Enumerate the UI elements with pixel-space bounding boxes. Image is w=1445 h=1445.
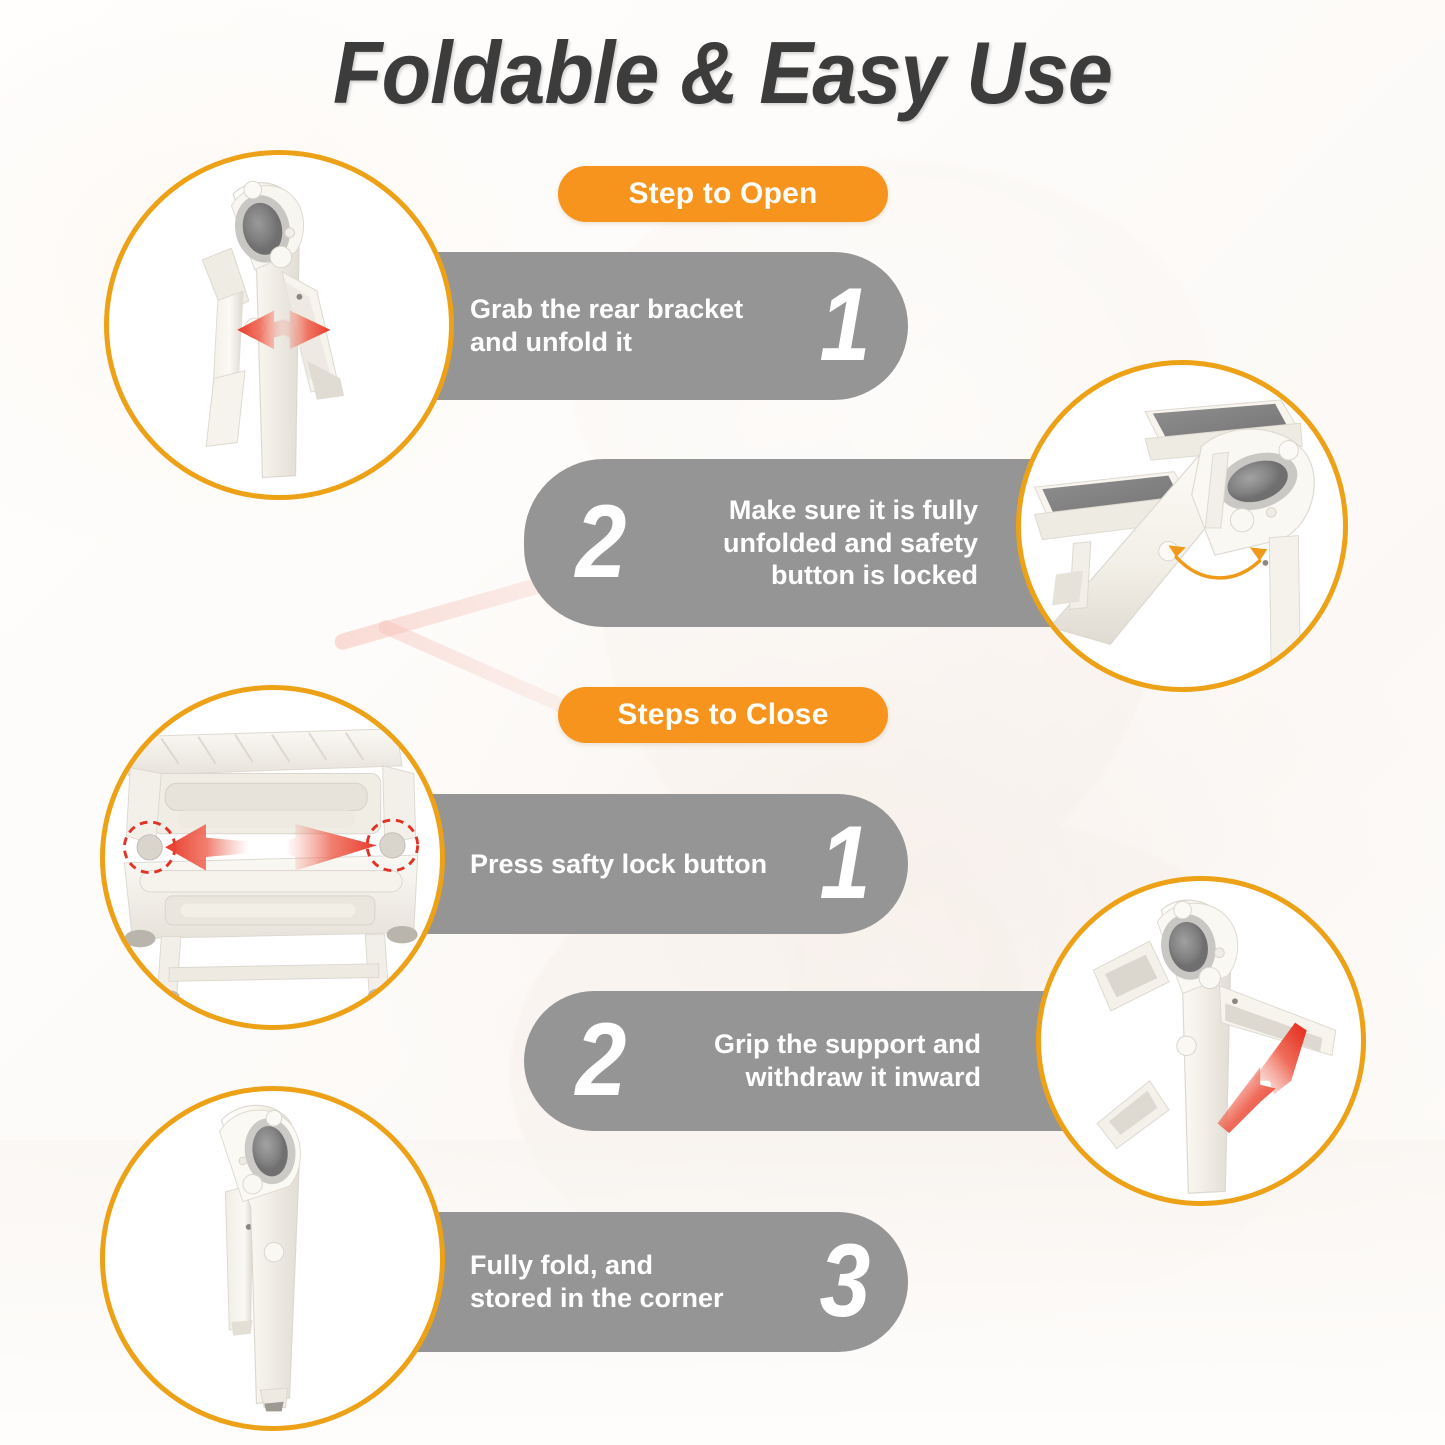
illustration-circle-close-2: [1036, 876, 1366, 1206]
stool-fully-folded-upright: [105, 1091, 440, 1426]
stool-side-view-support-retracting: [1041, 881, 1361, 1201]
stool-partially-folded-side-view: [109, 155, 449, 495]
stool-unfolded-two-steps: Open120°: [1021, 365, 1343, 687]
step-close-2-number: 2: [575, 1014, 626, 1108]
stool-folded-art: [105, 1091, 440, 1426]
stool-underside-art: [105, 690, 440, 1025]
stool-partially-folded-art: [109, 155, 449, 495]
page-title: Foldable & Easy Use: [58, 22, 1387, 124]
step-open-1-text: Grab the rear bracket and unfold it: [470, 293, 786, 359]
step-open-2-number: 2: [575, 496, 626, 590]
step-close-2-text: Grip the support and withdraw it inward: [656, 1028, 981, 1094]
step-close-3-text: Fully fold, and stored in the corner: [470, 1249, 790, 1315]
curved-open-angle-arrow: [1176, 557, 1259, 578]
step-close-1-number: 1: [820, 817, 871, 911]
converging-red-arrows: [1217, 1023, 1306, 1134]
step-open-2-text: Make sure it is fully unfolded and safet…: [656, 494, 978, 593]
stool-underside-lock-buttons: [105, 690, 440, 1025]
illustration-circle-open-2: Open120°: [1016, 360, 1348, 692]
stool-unfolded-art: [1021, 365, 1343, 687]
section-badge-steps-to-close: Steps to Close: [558, 687, 888, 743]
illustration-circle-open-1: [104, 150, 454, 500]
open-angle-annotation: Open120°: [1021, 365, 1109, 388]
step-close-3-number: 3: [820, 1235, 871, 1329]
illustration-circle-close-3: [100, 1086, 445, 1431]
section-badge-step-to-open: Step to Open: [558, 166, 888, 222]
step-close-1-text: Press safty lock button: [470, 848, 790, 881]
stool-retracting-art: [1041, 881, 1361, 1201]
illustration-circle-close-1: [100, 685, 445, 1030]
step-open-1-number: 1: [820, 279, 871, 373]
